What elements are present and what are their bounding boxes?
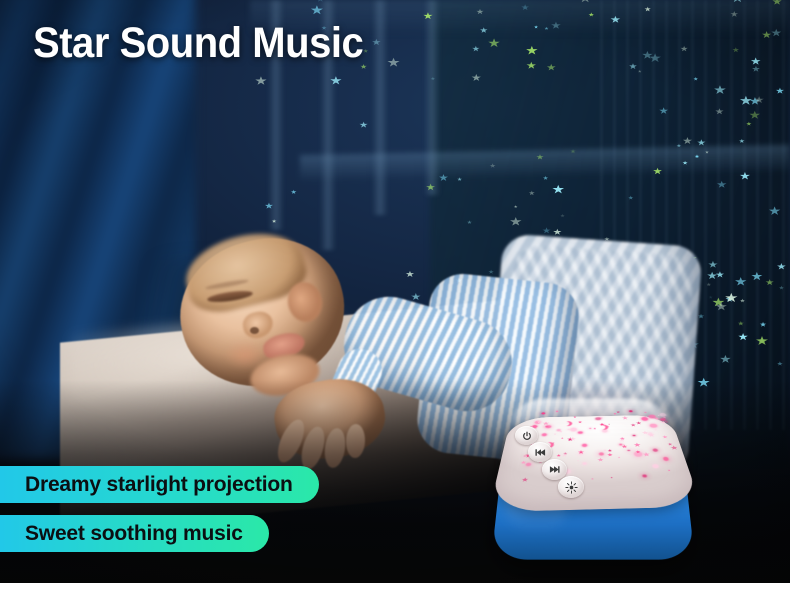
star-projector-device[interactable] xyxy=(496,382,696,577)
device-led xyxy=(561,453,568,458)
device-led xyxy=(655,429,657,430)
next-track-icon xyxy=(549,465,560,474)
device-led xyxy=(641,417,648,421)
device-led xyxy=(577,460,580,462)
device-led xyxy=(670,445,679,450)
device-led xyxy=(652,449,658,452)
device-led xyxy=(573,416,576,418)
device-led xyxy=(644,412,647,413)
device-led xyxy=(662,435,669,439)
device-led xyxy=(542,433,548,436)
device-led xyxy=(647,432,653,435)
device-led xyxy=(633,443,641,448)
device-led xyxy=(660,418,666,421)
device-led xyxy=(524,455,527,457)
device-led xyxy=(667,443,673,446)
feature-badge-label: Sweet soothing music xyxy=(25,522,243,546)
device-led xyxy=(642,452,651,457)
device-led-moon xyxy=(561,421,570,426)
device-led xyxy=(616,411,620,413)
device-led xyxy=(630,423,636,427)
device-led xyxy=(556,454,561,457)
power-icon xyxy=(522,431,532,441)
device-led xyxy=(655,418,658,420)
device-led xyxy=(582,444,587,447)
device-led xyxy=(525,463,531,467)
device-led xyxy=(665,421,668,422)
device-led xyxy=(557,429,561,431)
device-led xyxy=(589,428,591,429)
device-led xyxy=(598,452,604,455)
device-led xyxy=(556,411,559,412)
device-led xyxy=(521,477,529,482)
device-led xyxy=(627,449,630,451)
device-led xyxy=(570,428,577,432)
bottom-white-strip xyxy=(0,583,790,593)
device-led xyxy=(610,477,613,479)
device-led xyxy=(608,423,611,424)
device-led xyxy=(545,431,547,432)
device-led xyxy=(595,417,600,420)
device-led xyxy=(613,413,617,415)
device-led xyxy=(602,429,608,432)
device-led xyxy=(621,416,628,420)
product-banner: Star Sound Music Dreamy starlight projec… xyxy=(0,0,790,593)
device-led xyxy=(650,424,658,428)
device-led-stars xyxy=(491,406,700,491)
device-led xyxy=(619,444,622,446)
device-led xyxy=(578,431,583,434)
device-led xyxy=(551,442,554,444)
device-led xyxy=(642,474,647,477)
sun-icon xyxy=(565,481,578,494)
feature-badge-projection: Dreamy starlight projection xyxy=(0,466,319,503)
device-led xyxy=(617,456,621,458)
device-led xyxy=(597,458,604,462)
feature-badge-label: Dreamy starlight projection xyxy=(25,473,293,497)
device-led xyxy=(633,435,636,437)
brightness-button[interactable] xyxy=(558,476,584,498)
device-led xyxy=(578,421,583,424)
device-led xyxy=(623,444,626,446)
device-led xyxy=(606,425,610,427)
device-led xyxy=(591,478,594,480)
device-led xyxy=(561,437,564,439)
device-led xyxy=(553,433,557,435)
device-led xyxy=(629,410,633,412)
device-led xyxy=(582,462,587,465)
page-title: Star Sound Music xyxy=(33,22,363,65)
device-led xyxy=(603,449,607,452)
feature-badge-music: Sweet soothing music xyxy=(0,515,269,552)
device-led xyxy=(659,413,666,417)
device-led xyxy=(667,469,671,471)
device-led xyxy=(546,425,552,428)
previous-track-icon xyxy=(535,448,546,457)
device-led xyxy=(635,421,642,425)
device-led xyxy=(607,449,612,452)
device-led xyxy=(618,438,625,442)
device-led xyxy=(651,464,659,469)
device-led xyxy=(663,457,670,461)
device-led xyxy=(607,453,613,457)
